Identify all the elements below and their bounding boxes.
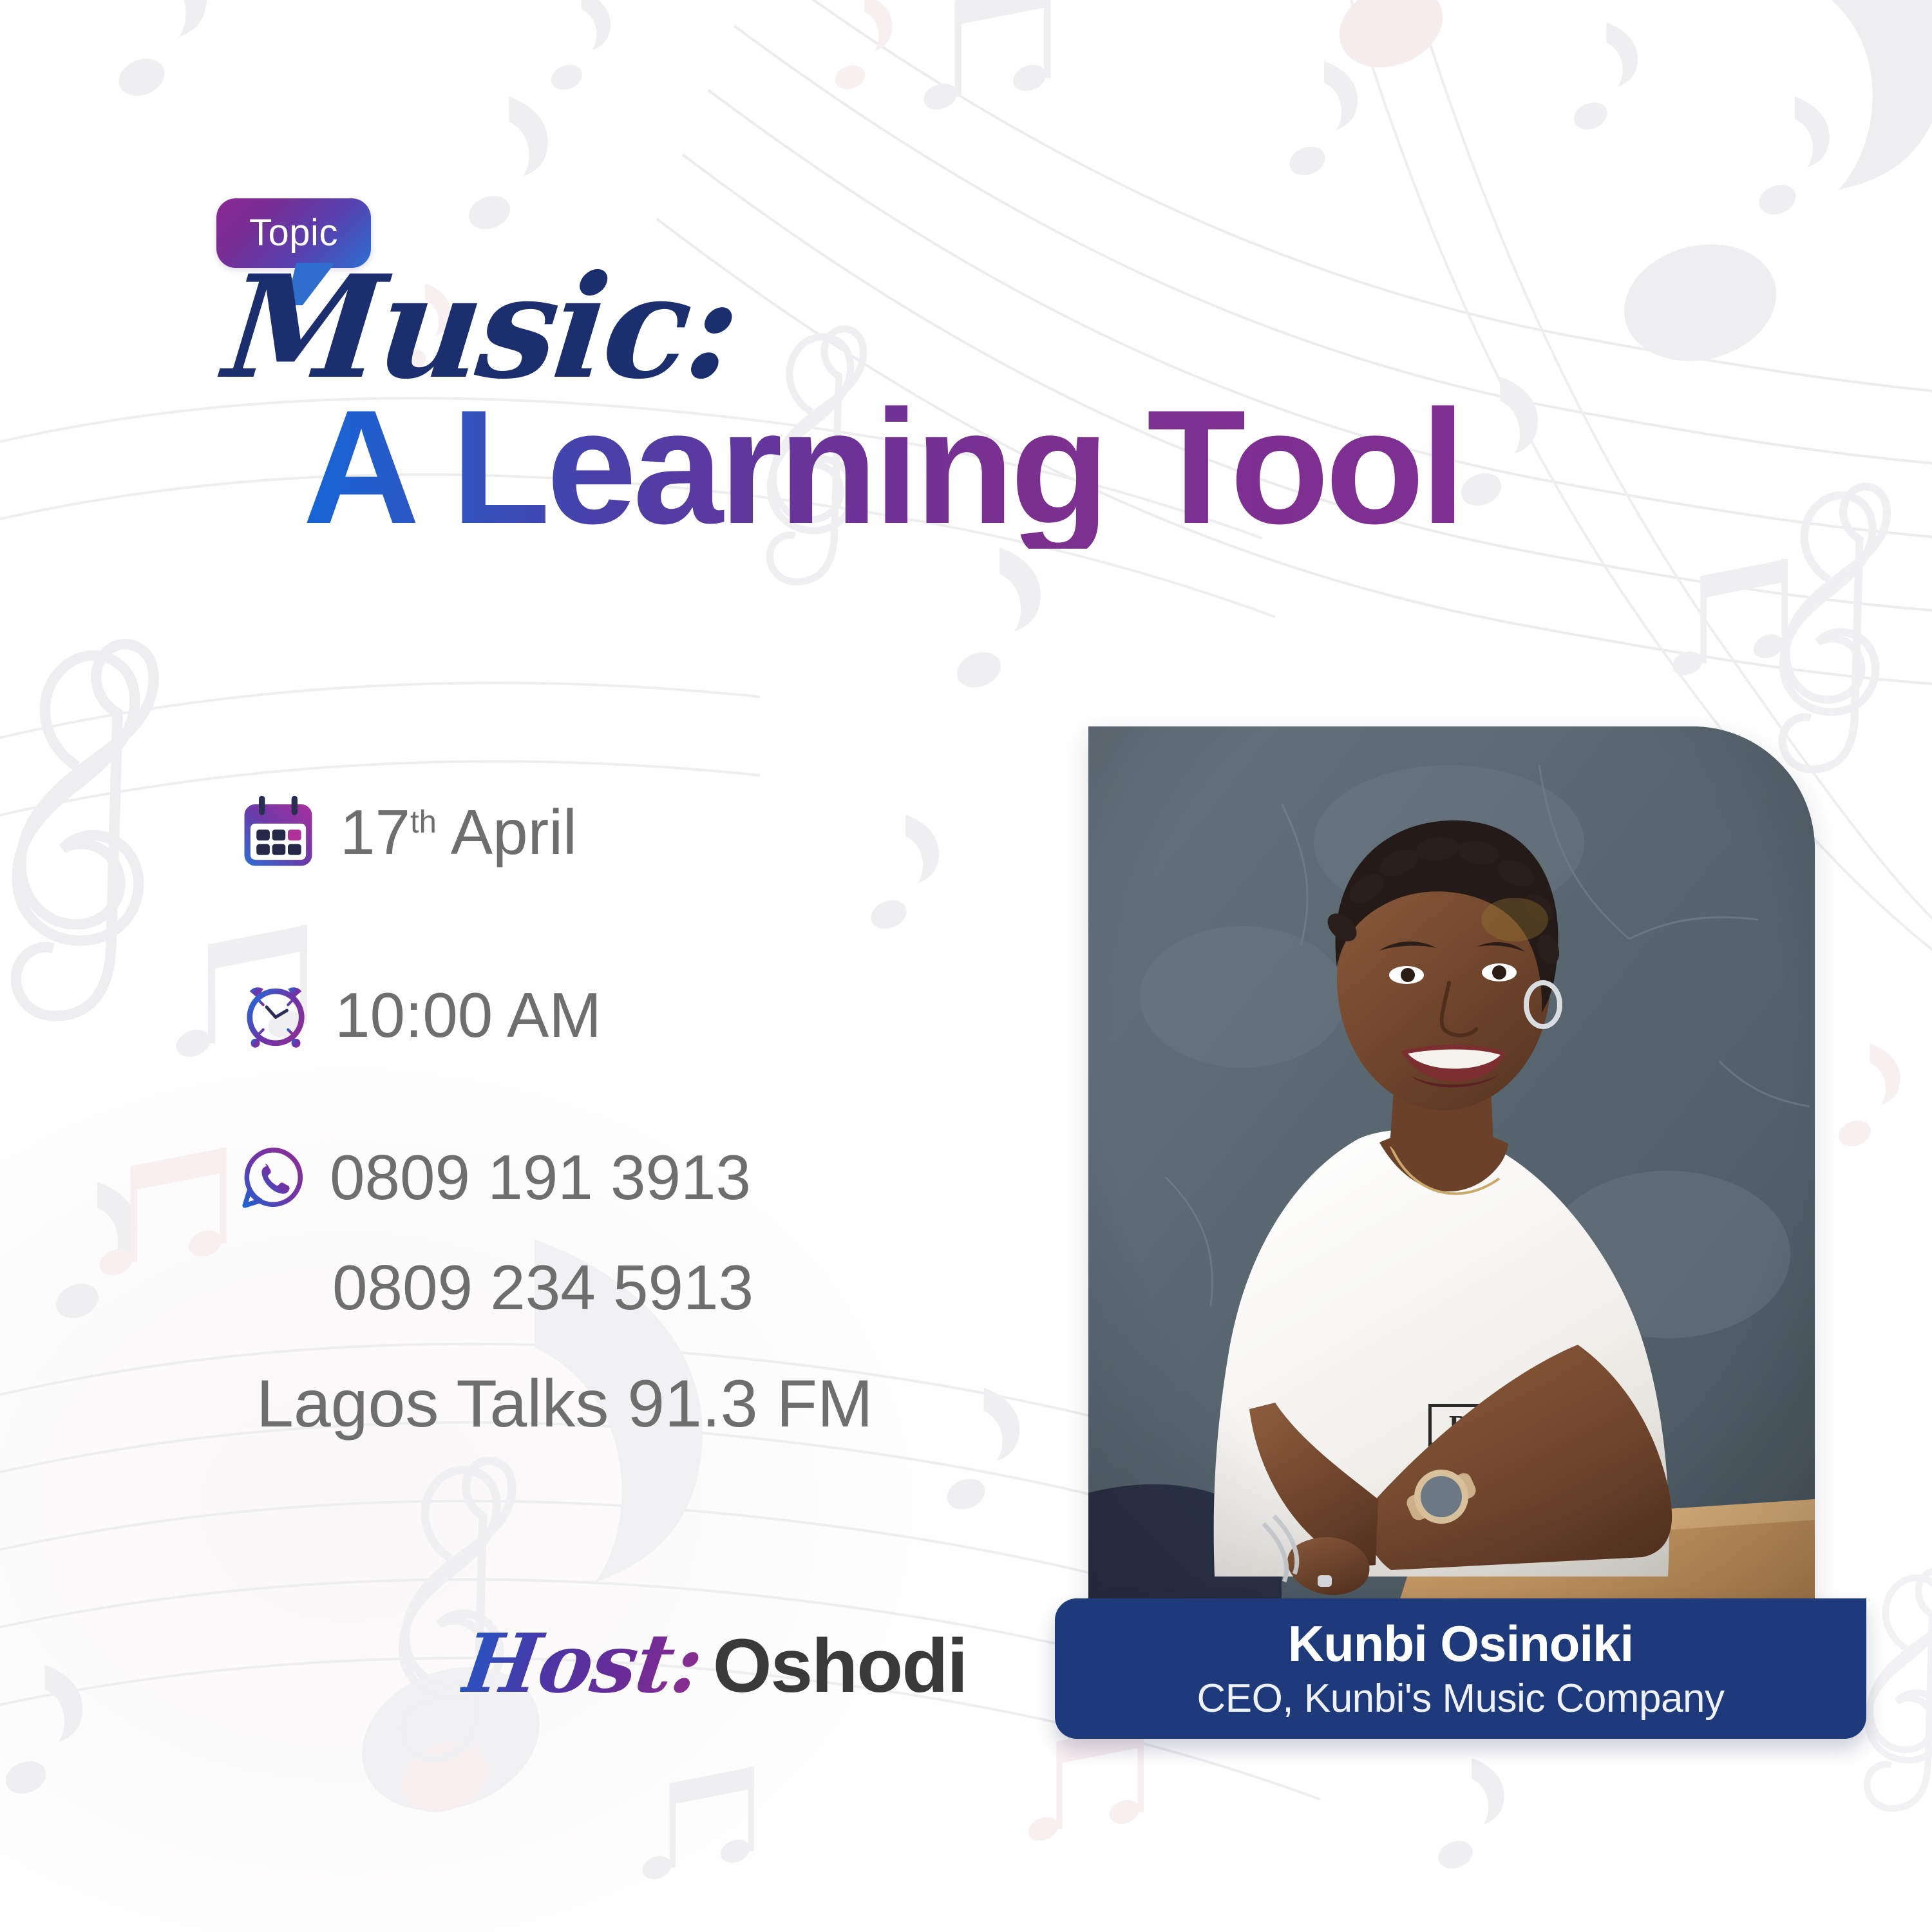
speaker-portrait: BOSS HUGO BOSS: [1088, 726, 1815, 1628]
event-date: 17th April: [340, 800, 577, 864]
event-time: 10:00 AM: [335, 983, 601, 1046]
phone-primary: 0809 191 3913: [330, 1146, 751, 1209]
phone-secondary: 0809 234 5913: [332, 1256, 753, 1319]
calendar-icon: [240, 793, 317, 871]
date-ordinal: th: [410, 804, 437, 839]
alarm-clock-icon: [240, 979, 312, 1051]
date-month: April: [437, 797, 577, 867]
speaker-name-banner: Kunbi Osinoiki CEO, Kunbi's Music Compan…: [1055, 1598, 1866, 1739]
detail-row-time: 10:00 AM: [240, 979, 601, 1051]
detail-row-phone: 0809 191 3913: [240, 1144, 751, 1211]
speaker-role: CEO, Kunbi's Music Company: [1197, 1679, 1725, 1719]
portrait-illustration: BOSS HUGO BOSS: [1088, 726, 1815, 1628]
speaker-name: Kunbi Osinoiki: [1288, 1618, 1633, 1669]
host-line: Host: Oshodi: [464, 1623, 967, 1704]
whatsapp-icon: [240, 1144, 307, 1211]
host-label: Host:: [458, 1623, 706, 1704]
radio-station: Lagos Talks 91.3 FM: [256, 1370, 873, 1437]
page-title: A Learning Tool: [303, 386, 1462, 549]
date-day: 17: [340, 797, 410, 867]
host-name: Oshodi: [713, 1628, 967, 1704]
event-flyer: Topic Music: A Learning Tool 1: [0, 0, 1932, 1932]
detail-row-date: 17th April: [240, 793, 577, 871]
